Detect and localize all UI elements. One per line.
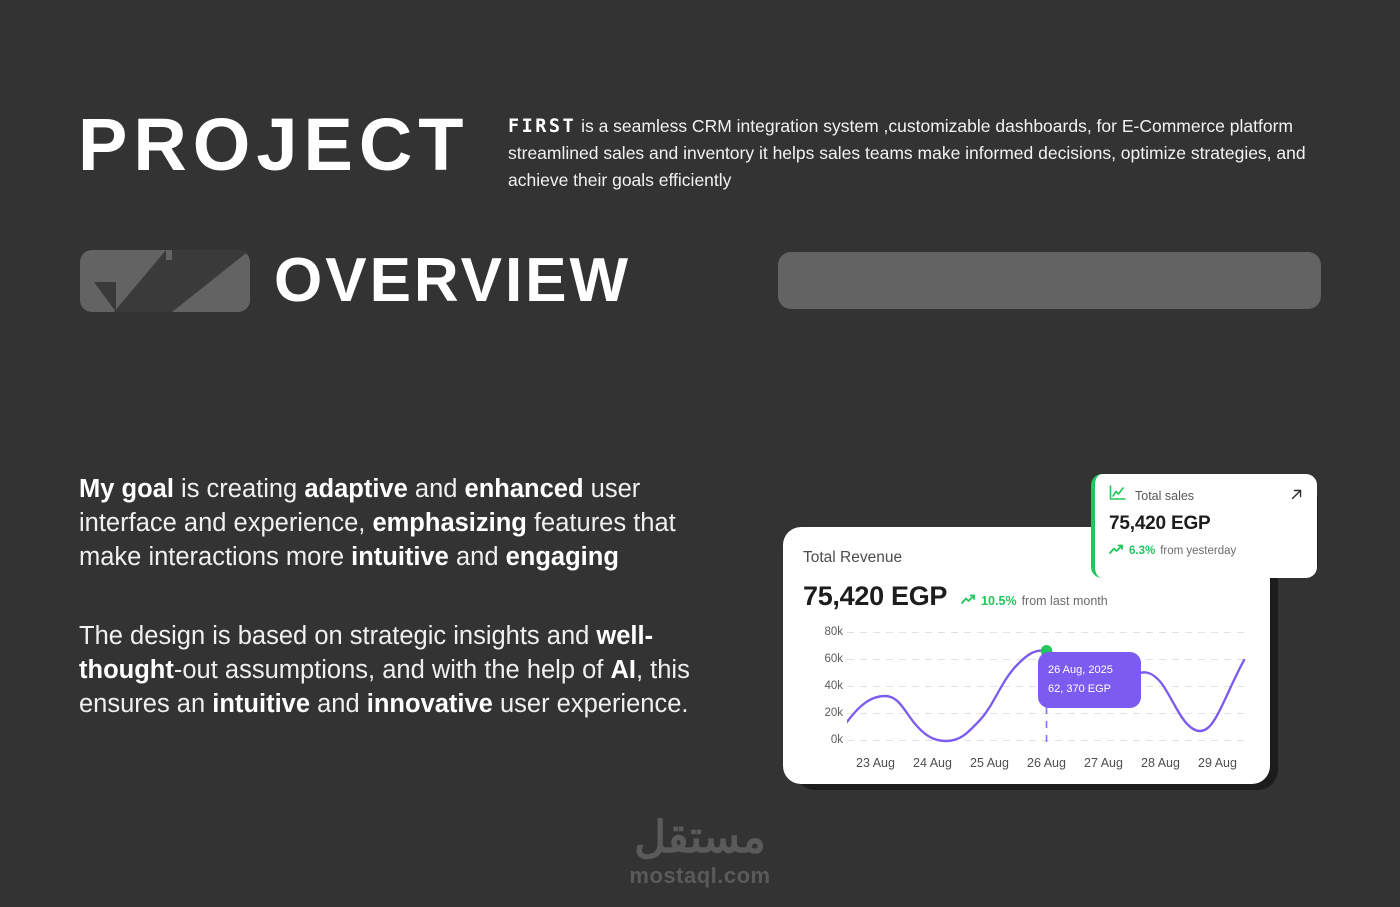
poster-canvas: PROJECT FIRST is a seamless CRM integrat… — [0, 0, 1400, 907]
y-tick-label: 20k — [824, 707, 843, 719]
x-tick-label: 25 Aug — [961, 756, 1018, 770]
x-tick-label: 29 Aug — [1189, 756, 1246, 770]
sales-delta-pct: 6.3% — [1129, 545, 1155, 557]
brand-logotype: FIRST — [508, 116, 576, 137]
revenue-delta: 10.5% from last month — [961, 594, 1108, 608]
y-tick-label: 80k — [824, 626, 843, 638]
revenue-headline-row: 75,420 EGP 10.5% from last month — [803, 581, 1250, 612]
open-external-icon[interactable] — [1290, 488, 1303, 503]
overview-title: OVERVIEW — [274, 250, 631, 312]
trend-up-icon — [1109, 544, 1124, 558]
tooltip-value: 62, 370 EGP — [1048, 680, 1131, 699]
paragraph-design: The design is based on strategic insight… — [79, 619, 719, 721]
watermark: مستقل mostaql.com — [0, 815, 1400, 889]
revenue-delta-text: from last month — [1022, 594, 1108, 608]
placeholder-bar — [778, 252, 1321, 309]
y-axis-labels: 0k20k40k60k80k — [803, 624, 843, 748]
tooltip-date: 26 Aug, 2025 — [1048, 661, 1131, 680]
paragraph-goal: My goal is creating adaptive and enhance… — [79, 472, 719, 574]
overview-row: OVERVIEW — [80, 250, 631, 312]
line-chart-icon — [1109, 485, 1126, 506]
sales-card-header: Total sales — [1109, 485, 1303, 506]
x-tick-label: 27 Aug — [1075, 756, 1132, 770]
x-tick-label: 23 Aug — [847, 756, 904, 770]
sales-label: Total sales — [1135, 489, 1281, 503]
brand-logo-icon — [80, 250, 250, 312]
x-tick-label: 26 Aug — [1018, 756, 1075, 770]
x-tick-label: 28 Aug — [1132, 756, 1189, 770]
trend-up-icon — [961, 594, 976, 608]
revenue-amount: 75,420 EGP — [803, 581, 947, 612]
x-tick-label: 24 Aug — [904, 756, 961, 770]
body-copy: My goal is creating adaptive and enhance… — [79, 472, 719, 721]
sales-delta-text: from yesterday — [1160, 545, 1236, 557]
watermark-latin: mostaql.com — [0, 863, 1400, 889]
page-title: PROJECT — [78, 108, 470, 182]
y-tick-label: 0k — [831, 734, 843, 746]
revenue-delta-pct: 10.5% — [981, 594, 1016, 608]
y-tick-label: 60k — [824, 653, 843, 665]
intro-paragraph: FIRST is a seamless CRM integration syst… — [508, 113, 1328, 194]
revenue-chart: 0k20k40k60k80k 23 Aug24 Aug25 Aug26 Aug2… — [803, 624, 1250, 772]
sales-amount: 75,420 EGP — [1109, 513, 1303, 535]
x-axis-labels: 23 Aug24 Aug25 Aug26 Aug27 Aug28 Aug29 A… — [847, 756, 1246, 770]
total-sales-card[interactable]: Total sales 75,420 EGP 6.3% from yesterd… — [1091, 474, 1317, 578]
y-tick-label: 40k — [824, 680, 843, 692]
sales-delta: 6.3% from yesterday — [1109, 544, 1303, 558]
watermark-arabic: مستقل — [0, 815, 1400, 861]
chart-tooltip: 26 Aug, 2025 62, 370 EGP — [1038, 652, 1141, 708]
intro-text: is a seamless CRM integration system ,cu… — [508, 116, 1306, 190]
